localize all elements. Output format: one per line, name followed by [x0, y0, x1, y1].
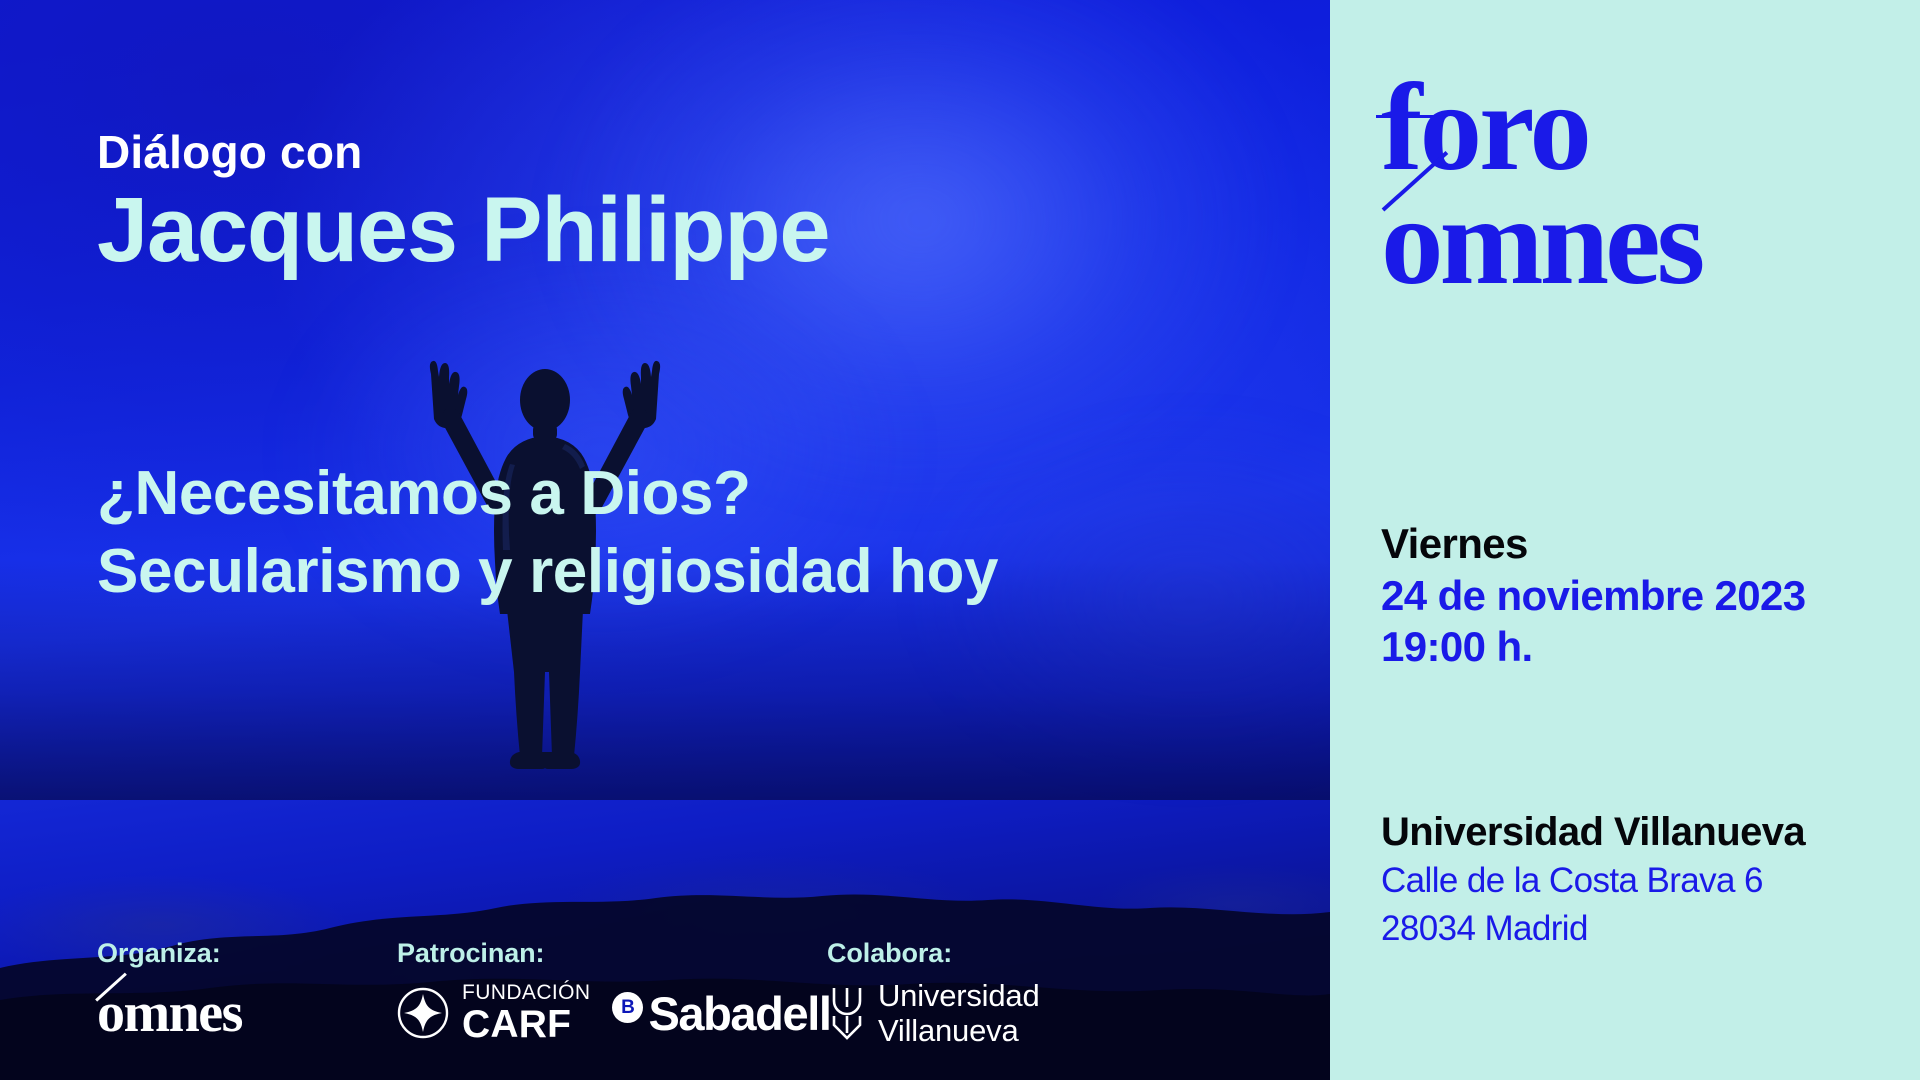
banco-sabadell-logo[interactable]: B Sabadell: [612, 990, 830, 1037]
brand-line-omnes: omnes: [1381, 182, 1701, 302]
sponsor-group-patrocinan: Patrocinan: FUNDACIÓN CARF: [397, 938, 827, 1044]
venue-city: 28034 Madrid: [1381, 905, 1805, 953]
venue-name: Universidad Villanueva: [1381, 808, 1805, 857]
talk-title-line-2: Secularismo y religiosidad hoy: [97, 533, 998, 611]
sponsor-strip: Organiza: omnes Patrocinan:: [97, 938, 1290, 1044]
event-date: 24 de noviembre 2023: [1381, 570, 1806, 622]
event-venue-block: Universidad Villanueva Calle de la Costa…: [1381, 808, 1805, 954]
photo-panel: Diálogo con Jacques Philippe ¿Necesitamo…: [0, 0, 1330, 1080]
sponsor-logos-patrocinan: FUNDACIÓN CARF B Sabadell: [397, 982, 827, 1044]
four-point-star-icon: [397, 987, 449, 1039]
sponsor-logos-organiza: omnes: [97, 982, 397, 1044]
sponsor-label-organiza: Organiza:: [97, 938, 397, 969]
fundacion-carf-logo[interactable]: FUNDACIÓN CARF: [397, 982, 590, 1044]
event-date-block: Viernes 24 de noviembre 2023 19:00 h.: [1381, 518, 1806, 673]
speaker-name: Jacques Philippe: [97, 182, 829, 279]
sponsor-label-colabora: Colabora:: [827, 938, 1087, 969]
universidad-wordmark: Universidad Villanueva: [878, 978, 1040, 1049]
event-time: 19:00 h.: [1381, 621, 1806, 673]
info-panel: foro omnes Viernes 24 de noviembre 2023 …: [1330, 0, 1920, 1080]
dialog-kicker: Diálogo con: [97, 125, 362, 179]
omnes-slash-icon: [95, 973, 126, 1002]
uv-line-villanueva: Villanueva: [878, 1013, 1040, 1048]
uv-line-universidad: Universidad: [878, 978, 1040, 1013]
sabadell-wordmark: Sabadell: [648, 990, 830, 1037]
foro-omnes-brand-logo[interactable]: foro omnes: [1381, 68, 1701, 302]
omnes-logo[interactable]: omnes: [97, 985, 242, 1041]
talk-title: ¿Necesitamos a Dios? Secularismo y relig…: [97, 455, 998, 611]
f-crossbar-icon: [1376, 115, 1434, 118]
omnes-logo-text: mnes: [124, 982, 242, 1044]
venue-street: Calle de la Costa Brava 6: [1381, 857, 1805, 905]
carf-line-fundacion: FUNDACIÓN: [462, 982, 590, 1003]
sponsor-label-patrocinan: Patrocinan:: [397, 938, 827, 969]
carf-line-carf: CARF: [462, 1005, 590, 1044]
talk-title-line-1: ¿Necesitamos a Dios?: [97, 455, 998, 533]
sponsor-group-organiza: Organiza: omnes: [97, 938, 397, 1044]
uv-monogram-icon: [827, 985, 867, 1041]
universidad-villanueva-logo[interactable]: Universidad Villanueva: [827, 978, 1040, 1049]
event-weekday: Viernes: [1381, 518, 1806, 570]
sponsor-logos-colabora: Universidad Villanueva: [827, 982, 1087, 1044]
carf-wordmark: FUNDACIÓN CARF: [462, 982, 590, 1044]
brand-omnes-text: mnes: [1440, 173, 1702, 311]
sabadell-b-badge-icon: B: [612, 992, 643, 1023]
event-poster: Diálogo con Jacques Philippe ¿Necesitamo…: [0, 0, 1920, 1080]
sponsor-group-colabora: Colabora: Universidad: [827, 938, 1087, 1044]
